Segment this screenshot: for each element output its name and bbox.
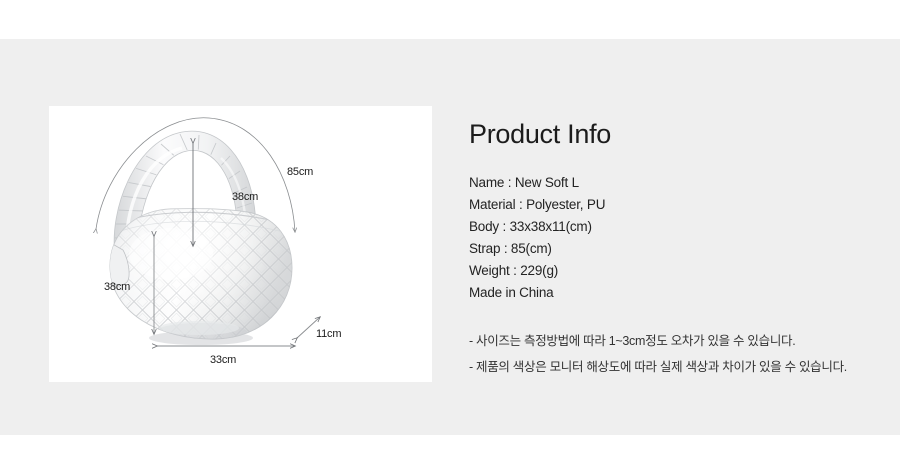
dimension-annotations	[49, 106, 432, 382]
spec-item-material: Material : Polyester, PU	[469, 194, 879, 216]
spec-item-body: Body : 33x38x11(cm)	[469, 216, 879, 238]
spec-item-strap: Strap : 85(cm)	[469, 238, 879, 260]
spec-item-name: Name : New Soft L	[469, 172, 879, 194]
product-spec-list: Name : New Soft L Material : Polyester, …	[469, 172, 879, 304]
page-title: Product Info	[469, 118, 879, 150]
spec-item-origin: Made in China	[469, 282, 879, 304]
product-info-panel: Product Info Name : New Soft L Material …	[469, 118, 879, 380]
product-detail-page: 85cm 38cm 38cm 33cm 11cm Product Info Na…	[0, 0, 900, 474]
dimension-label-handle-drop: 38cm	[232, 191, 258, 203]
dimension-label-body-height: 38cm	[104, 281, 130, 293]
dimension-label-strap: 85cm	[287, 166, 313, 178]
bag-illustration-stage: 85cm 38cm 38cm 33cm 11cm	[49, 106, 432, 382]
spec-item-weight: Weight : 229(g)	[469, 260, 879, 282]
product-image-panel: 85cm 38cm 38cm 33cm 11cm	[49, 106, 432, 382]
dimension-line-strap	[96, 118, 295, 232]
note-size-tolerance: - 사이즈는 측정방법에 따라 1~3cm정도 오차가 있을 수 있습니다.	[469, 328, 879, 354]
dimension-label-body-depth: 11cm	[316, 328, 341, 340]
product-notes: - 사이즈는 측정방법에 따라 1~3cm정도 오차가 있을 수 있습니다. -…	[469, 328, 879, 380]
note-color-variance: - 제품의 색상은 모니터 해상도에 따라 실제 색상과 차이가 있을 수 있습…	[469, 354, 879, 380]
dimension-label-body-width: 33cm	[210, 354, 236, 366]
